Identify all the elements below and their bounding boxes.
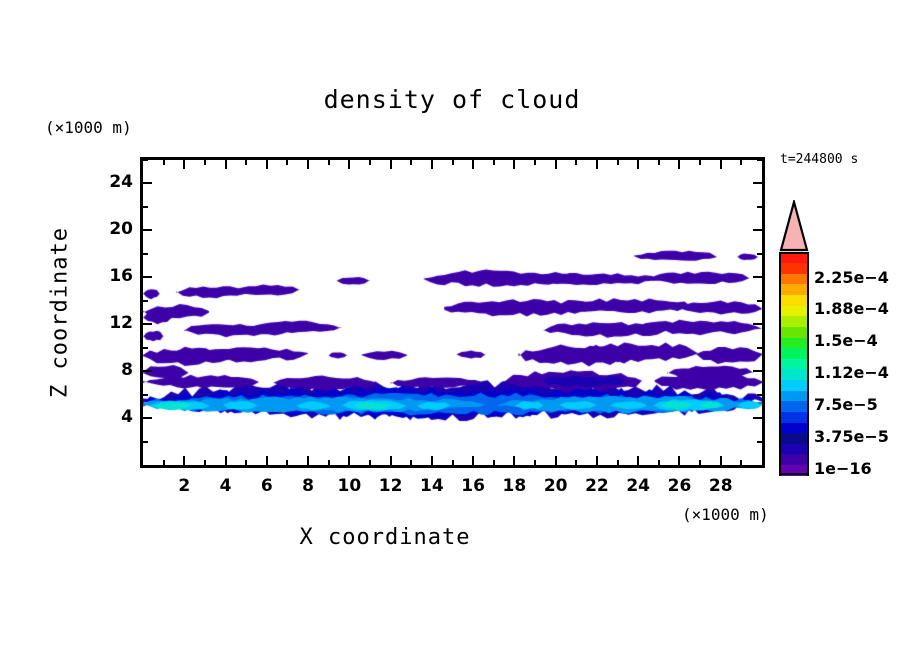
x-tick-minor xyxy=(328,460,330,465)
x-tick-major-top xyxy=(348,160,350,169)
x-tick-minor-top xyxy=(204,160,206,165)
page-title: density of cloud xyxy=(0,85,904,114)
colorbar-band xyxy=(779,337,809,348)
colorbar-bottom-edge xyxy=(779,473,809,475)
x-tick-minor-top xyxy=(369,160,371,165)
x-tick-minor-top xyxy=(245,160,247,165)
x-tick-major-top xyxy=(472,160,474,169)
y-tick-major-right xyxy=(753,323,762,325)
colorbar-band xyxy=(779,326,809,337)
x-tick-minor-top xyxy=(740,160,742,165)
x-tick-minor xyxy=(245,460,247,465)
y-tick-major-right xyxy=(753,182,762,184)
colorbar-tick-label: 1e−16 xyxy=(814,459,872,478)
colorbar-band xyxy=(779,273,809,284)
x-tick-major xyxy=(348,456,350,465)
x-tick-minor xyxy=(740,460,742,465)
colorbar-tick-label: 1.88e−4 xyxy=(814,299,889,318)
y-tick-major-right xyxy=(753,417,762,419)
colorbar-band xyxy=(779,348,809,359)
y-tick-minor xyxy=(143,441,148,443)
x-tick-major-top xyxy=(678,160,680,169)
x-tick-major xyxy=(637,456,639,465)
colorbar-overflow-arrow xyxy=(779,200,809,252)
y-tick-major xyxy=(143,417,152,419)
y-tick-major xyxy=(143,276,152,278)
x-tick-minor xyxy=(452,460,454,465)
colorbar-band xyxy=(779,422,809,433)
colorbar-band xyxy=(779,316,809,327)
colorbar-band xyxy=(779,305,809,316)
x-tick-minor-top xyxy=(328,160,330,165)
x-tick-major-top xyxy=(513,160,515,169)
x-tick-minor-top xyxy=(410,160,412,165)
x-tick-minor xyxy=(369,460,371,465)
y-tick-major xyxy=(143,370,152,372)
x-tick-major xyxy=(225,456,227,465)
x-tick-major-top xyxy=(720,160,722,169)
x-tick-major xyxy=(555,456,557,465)
x-tick-major-top xyxy=(637,160,639,169)
x-tick-major-top xyxy=(431,160,433,169)
colorbar-tick-label: 1.5e−4 xyxy=(814,331,878,350)
x-tick-major xyxy=(513,456,515,465)
colorbar-band xyxy=(779,294,809,305)
x-tick-minor-top xyxy=(534,160,536,165)
x-tick-major xyxy=(678,456,680,465)
x-tick-minor-top xyxy=(699,160,701,165)
colorbar-tick-label: 2.25e−4 xyxy=(814,268,889,287)
x-tick-minor xyxy=(204,460,206,465)
y-tick-major-right xyxy=(753,276,762,278)
timestamp-annotation: t=244800 s xyxy=(780,152,858,167)
x-tick-minor-top xyxy=(658,160,660,165)
x-tick-minor xyxy=(493,460,495,465)
x-tick-minor xyxy=(575,460,577,465)
x-tick-major xyxy=(307,456,309,465)
y-tick-minor xyxy=(143,347,148,349)
y-tick-minor-right xyxy=(757,300,762,302)
x-tick-major xyxy=(390,456,392,465)
x-tick-label: 28 xyxy=(696,476,746,496)
colorbar-band xyxy=(779,379,809,390)
x-tick-major xyxy=(183,456,185,465)
y-tick-minor-right xyxy=(757,347,762,349)
x-tick-major xyxy=(472,456,474,465)
colorbar-top-edge xyxy=(779,252,809,254)
y-tick-minor xyxy=(143,206,148,208)
z-axis-unit-label: (×1000 m) xyxy=(45,118,132,137)
z-axis-title: Z coordinate xyxy=(48,203,73,423)
x-tick-minor-top xyxy=(452,160,454,165)
x-tick-major-top xyxy=(596,160,598,169)
colorbar-band xyxy=(779,454,809,465)
x-axis-unit-label: (×1000 m) xyxy=(682,505,769,524)
x-tick-minor-top xyxy=(493,160,495,165)
colorbar-band xyxy=(779,369,809,380)
colorbar-band xyxy=(779,411,809,422)
x-tick-minor xyxy=(658,460,660,465)
colorbar-band xyxy=(779,401,809,412)
x-tick-major-top xyxy=(183,160,185,169)
colorbar-band xyxy=(779,263,809,274)
plot-area xyxy=(140,157,765,468)
y-tick-minor xyxy=(143,253,148,255)
x-tick-major-top xyxy=(390,160,392,169)
x-tick-major-top xyxy=(225,160,227,169)
y-tick-major xyxy=(143,323,152,325)
y-tick-minor-right xyxy=(757,206,762,208)
colorbar-band xyxy=(779,284,809,295)
colorbar-tick-label: 7.5e−5 xyxy=(814,395,878,414)
y-tick-minor xyxy=(143,159,148,161)
colorbar-band xyxy=(779,443,809,454)
x-tick-minor xyxy=(163,460,165,465)
x-tick-minor xyxy=(286,460,288,465)
y-tick-major-right xyxy=(753,370,762,372)
figure-canvas: density of cloud (×1000 m) (×1000 m) X c… xyxy=(0,0,904,654)
x-tick-major xyxy=(596,456,598,465)
y-tick-major-right xyxy=(753,229,762,231)
x-tick-major xyxy=(720,456,722,465)
y-tick-minor-right xyxy=(757,159,762,161)
x-tick-major xyxy=(431,456,433,465)
y-tick-major xyxy=(143,182,152,184)
y-tick-label: 20 xyxy=(81,219,133,239)
y-tick-label: 16 xyxy=(81,266,133,286)
x-axis-title: X coordinate xyxy=(0,525,770,550)
contour-field xyxy=(143,160,762,465)
x-tick-minor-top xyxy=(286,160,288,165)
colorbar-tick-label: 3.75e−5 xyxy=(814,427,889,446)
colorbar-band xyxy=(779,390,809,401)
x-tick-minor xyxy=(699,460,701,465)
x-tick-major-top xyxy=(307,160,309,169)
x-tick-major-top xyxy=(555,160,557,169)
x-tick-major-top xyxy=(266,160,268,169)
x-tick-minor xyxy=(617,460,619,465)
x-tick-minor-top xyxy=(617,160,619,165)
x-tick-minor xyxy=(534,460,536,465)
colorbar-tick-label: 1.12e−4 xyxy=(814,363,889,382)
y-tick-minor xyxy=(143,394,148,396)
y-tick-major xyxy=(143,229,152,231)
y-tick-label: 8 xyxy=(81,360,133,380)
y-tick-label: 12 xyxy=(81,313,133,333)
colorbar xyxy=(779,200,809,475)
x-tick-minor-top xyxy=(163,160,165,165)
y-tick-label: 24 xyxy=(81,172,133,192)
y-tick-minor-right xyxy=(757,394,762,396)
x-tick-major xyxy=(266,456,268,465)
y-tick-minor-right xyxy=(757,253,762,255)
x-tick-minor-top xyxy=(575,160,577,165)
colorbar-band xyxy=(779,433,809,444)
y-tick-minor xyxy=(143,300,148,302)
y-tick-label: 4 xyxy=(81,407,133,427)
y-tick-minor-right xyxy=(757,441,762,443)
x-tick-minor xyxy=(410,460,412,465)
colorbar-band xyxy=(779,358,809,369)
